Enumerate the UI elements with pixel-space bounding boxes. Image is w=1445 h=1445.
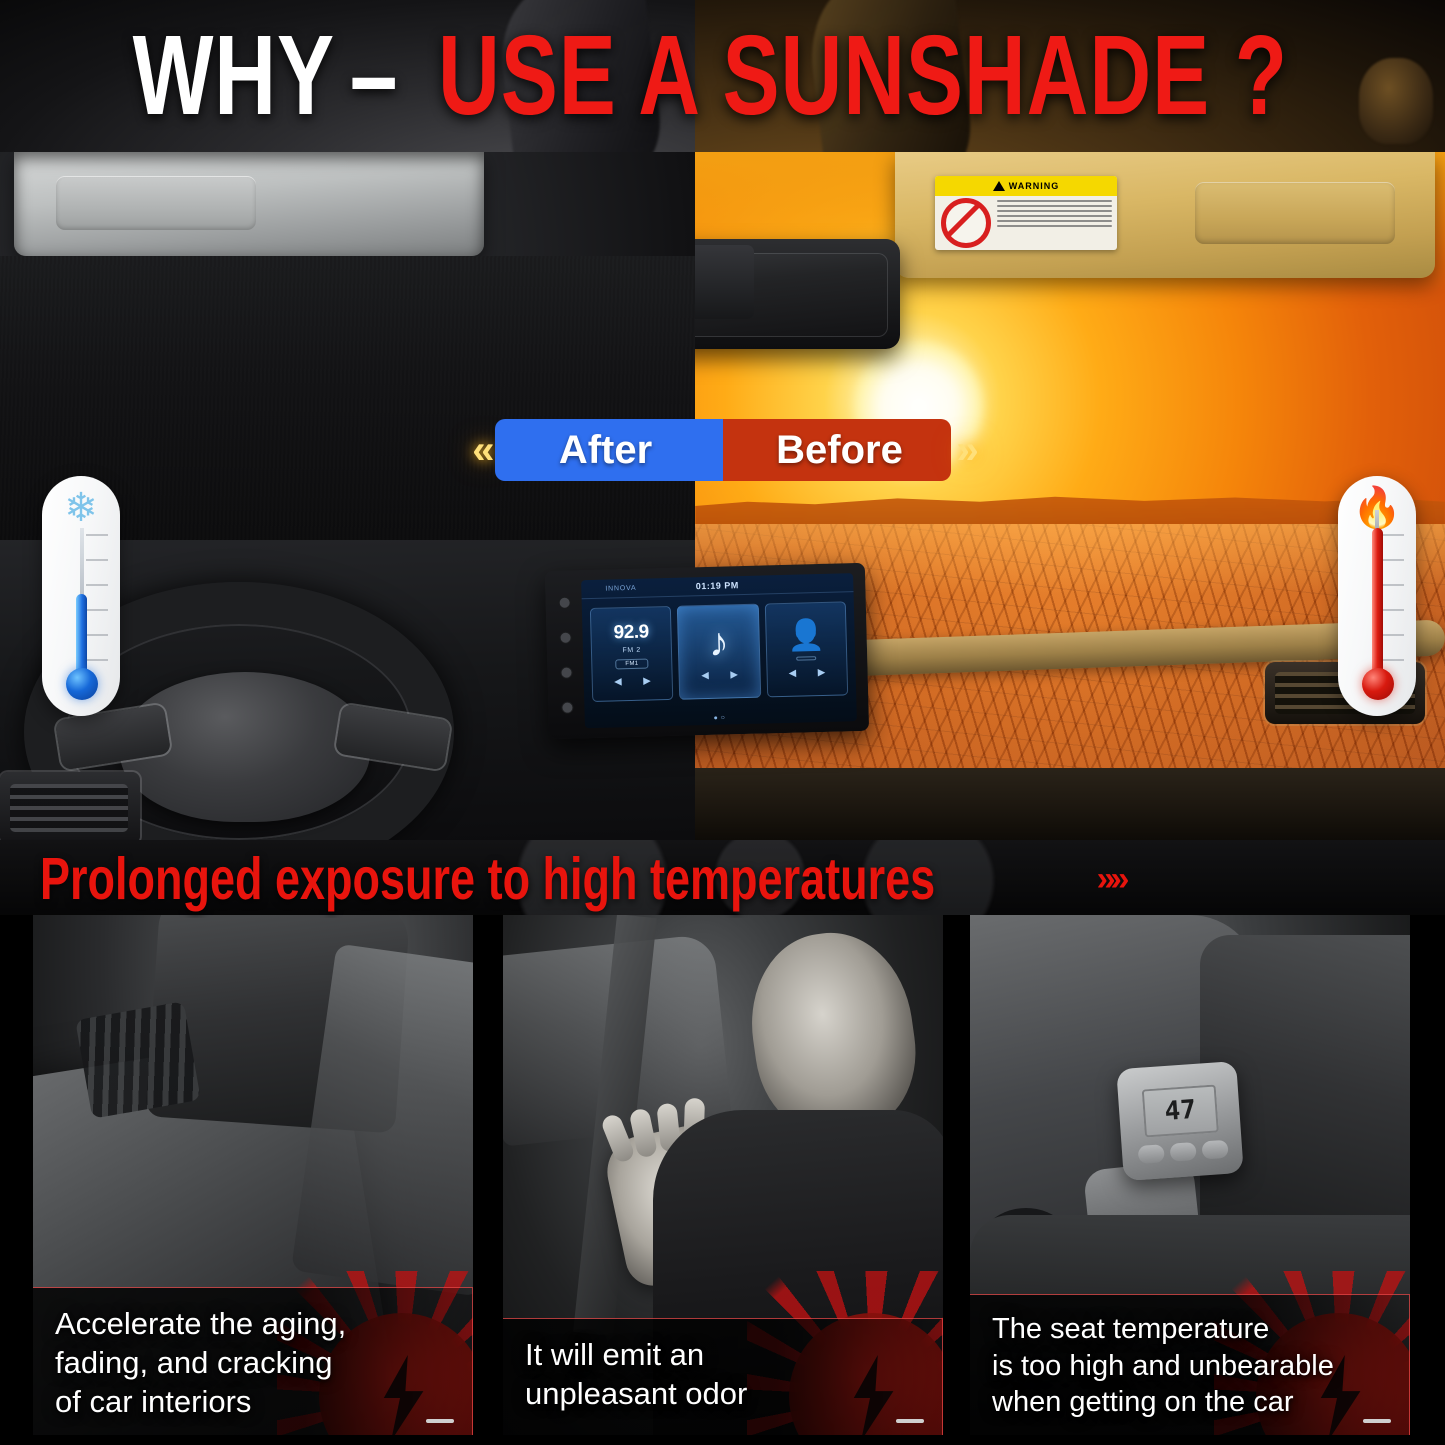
hero-before-side: WARNING	[695, 152, 1445, 840]
warning-label-header: WARNING	[935, 176, 1117, 196]
hero-comparison: WARNING	[0, 152, 1445, 840]
thermometer-bulb-hot	[1362, 668, 1394, 700]
cold-thermometer: ❄	[42, 476, 120, 716]
music-note-icon: ♪	[708, 622, 729, 663]
consequence-panels: Accelerate the aging, fading, and cracki…	[0, 915, 1445, 1445]
headline-dash: –	[344, 25, 404, 127]
dashboard-hot	[695, 768, 1445, 840]
warning-triangle-icon	[993, 181, 1005, 191]
caption-line: is too high and unbearable	[992, 1348, 1391, 1385]
person-icon: 👤	[787, 620, 825, 651]
ir-gun-button-1	[1138, 1144, 1165, 1164]
snowflake-icon: ❄	[42, 488, 120, 528]
radio-next-icon[interactable]: ▶	[643, 675, 650, 686]
hand-shape	[601, 1119, 750, 1291]
no-child-seat-icon	[941, 198, 991, 248]
caption-underscore	[896, 1419, 924, 1423]
panel-aging-caption: Accelerate the aging, fading, and cracki…	[33, 1287, 473, 1435]
head-unit-button-volume[interactable]	[561, 667, 571, 677]
radio-prev-icon[interactable]: ◀	[614, 676, 621, 687]
page-title: WHY – USE A SUNSHADE ?	[0, 0, 1445, 152]
head-unit-clock: 01:19 PM	[696, 580, 739, 591]
head-unit-brand-label: INNOVA	[605, 584, 636, 592]
head-unit-button-menu[interactable]	[560, 632, 570, 642]
media-tile[interactable]: ♪ ◀ ▶	[677, 604, 761, 700]
before-badge: Before	[723, 419, 951, 481]
phone-status-chip[interactable]	[796, 656, 816, 661]
radio-seek-controls[interactable]: ◀ ▶	[614, 675, 650, 687]
panel-aging: Accelerate the aging, fading, and cracki…	[33, 915, 473, 1435]
caption-line: The seat temperature	[992, 1311, 1391, 1348]
head-unit-page-dots[interactable]: ●○	[585, 711, 857, 725]
caption-underscore	[426, 1419, 454, 1423]
radio-tile[interactable]: 92.9 FM 2 FM1 ◀ ▶	[590, 606, 674, 702]
media-transport-controls[interactable]: ◀ ▶	[702, 669, 738, 681]
air-vent-left	[0, 772, 140, 840]
caption-line: fading, and cracking	[55, 1343, 454, 1382]
warning-pictogram	[935, 196, 997, 250]
phone-prev-icon[interactable]: ◀	[789, 667, 796, 678]
airbag-warning-label: WARNING	[935, 176, 1117, 250]
subheadline-chevrons-icon: »»	[1097, 860, 1125, 899]
after-before-badge-row: « After Before »	[0, 414, 1445, 486]
visor-pocket	[56, 176, 256, 230]
media-prev-icon[interactable]: ◀	[702, 670, 709, 681]
sun-visor-hot: WARNING	[895, 152, 1435, 278]
caption-line: when getting on the car	[992, 1384, 1391, 1421]
warning-label-text-lines	[997, 196, 1117, 250]
sunshade-infographic: WHY – USE A SUNSHADE ?	[0, 0, 1445, 1445]
radio-band: FM 2	[622, 646, 641, 653]
head-unit-button-power[interactable]	[560, 597, 570, 607]
visor-pocket-hot	[1195, 182, 1395, 244]
ir-thermometer-gun: 47	[1116, 1061, 1244, 1181]
caption-underscore	[1363, 1419, 1391, 1423]
hot-thermometer: 🔥	[1338, 476, 1416, 716]
sun-visor-cool	[14, 152, 484, 256]
thermometer-stem-cold	[80, 528, 84, 598]
phone-nav-controls[interactable]: ◀ ▶	[789, 666, 825, 678]
ir-gun-button-2	[1170, 1142, 1197, 1162]
caption-line: Accelerate the aging,	[55, 1304, 454, 1343]
thermometer-bulb-cold	[66, 668, 98, 700]
panel-odor: It will emit an unpleasant odor	[503, 915, 943, 1435]
radio-frequency: 92.9	[613, 621, 649, 644]
thermometer-ticks-cold	[86, 534, 108, 684]
head-unit-tiles: 92.9 FM 2 FM1 ◀ ▶ ♪ ◀ ▶	[582, 592, 857, 711]
thermometer-fill-hot	[1372, 528, 1383, 678]
subheadline-band: Prolonged exposure to high temperatures …	[0, 840, 1445, 918]
ir-thermometer-reading: 47	[1142, 1084, 1219, 1137]
radio-preset-chip[interactable]: FM1	[615, 658, 648, 669]
headline-band: WHY – USE A SUNSHADE ?	[0, 0, 1445, 152]
subheadline: Prolonged exposure to high temperatures …	[40, 840, 1124, 918]
caption-line: It will emit an	[525, 1335, 924, 1374]
warning-label-body	[935, 196, 1117, 250]
ir-gun-button-3	[1201, 1140, 1228, 1160]
caption-line: of car interiors	[55, 1382, 454, 1421]
phone-tile[interactable]: 👤 ◀ ▶	[764, 601, 848, 697]
mirror-dashcam-module	[695, 245, 754, 319]
subheadline-text: Prolonged exposure to high temperatures	[40, 845, 935, 913]
head-unit-button-home[interactable]	[562, 702, 572, 712]
rearview-mirror	[695, 239, 900, 349]
media-next-icon[interactable]: ▶	[730, 669, 737, 680]
panel-seat-temp: 47 The seat temperature is too high and …	[970, 915, 1410, 1435]
chevron-left-icon: «	[466, 430, 494, 470]
infotainment-head-unit[interactable]: INNOVA 01:19 PM 92.9 FM 2 FM1 ◀ ▶ ♪	[545, 563, 869, 739]
phone-next-icon[interactable]: ▶	[818, 666, 825, 677]
warning-label-word: WARNING	[1009, 181, 1060, 191]
caption-line: unpleasant odor	[525, 1374, 924, 1413]
head-unit-screen[interactable]: INNOVA 01:19 PM 92.9 FM 2 FM1 ◀ ▶ ♪	[581, 573, 857, 728]
thermometer-ticks-hot	[1382, 534, 1404, 684]
headline-why: WHY	[132, 25, 334, 127]
after-badge: After	[495, 419, 723, 481]
headline-use-a-sunshade: USE A SUNSHADE ?	[438, 25, 1288, 127]
chevron-right-icon: »	[951, 430, 979, 470]
panel-odor-caption: It will emit an unpleasant odor	[503, 1318, 943, 1435]
panel-seat-temp-caption: The seat temperature is too high and unb…	[970, 1294, 1410, 1435]
head-unit-side-buttons[interactable]	[551, 584, 581, 725]
